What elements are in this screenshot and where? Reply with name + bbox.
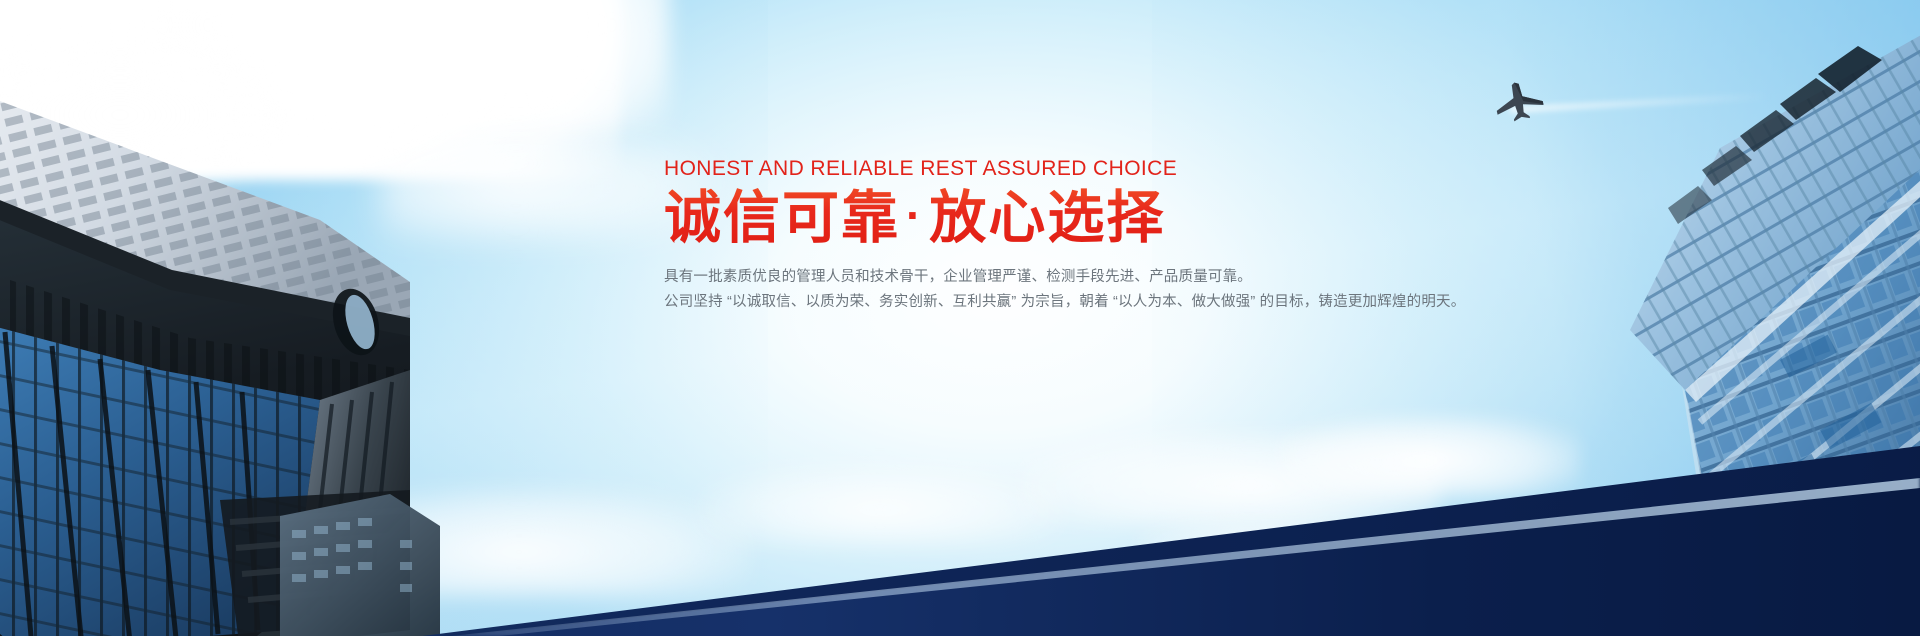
headline-separator: · — [900, 189, 929, 241]
headline-left: 诚信可靠 — [664, 186, 900, 250]
background-tower — [270, 456, 450, 636]
cloud-horizon-2 — [700, 466, 1060, 546]
headline-right: 放心选择 — [929, 186, 1165, 250]
banner-body-line-1: 具有一批素质优良的管理人员和技术骨干，企业管理严谨、检测手段先进、产品质量可靠。 — [664, 265, 1364, 290]
banner-body-line-2: 公司坚持 “以诚取信、以质为荣、务实创新、互利共赢” 为宗旨，朝着 “以人为本、… — [664, 290, 1364, 315]
hero-banner: HONEST AND RELIABLE REST ASSURED CHOICE … — [0, 0, 1920, 636]
page-title: 诚信可靠·放心选择 — [664, 187, 1364, 251]
cloud-horizon-4 — [1280, 416, 1580, 496]
banner-eyebrow: HONEST AND RELIABLE REST ASSURED CHOICE — [664, 156, 1364, 181]
banner-copy: HONEST AND RELIABLE REST ASSURED CHOICE … — [664, 156, 1364, 316]
